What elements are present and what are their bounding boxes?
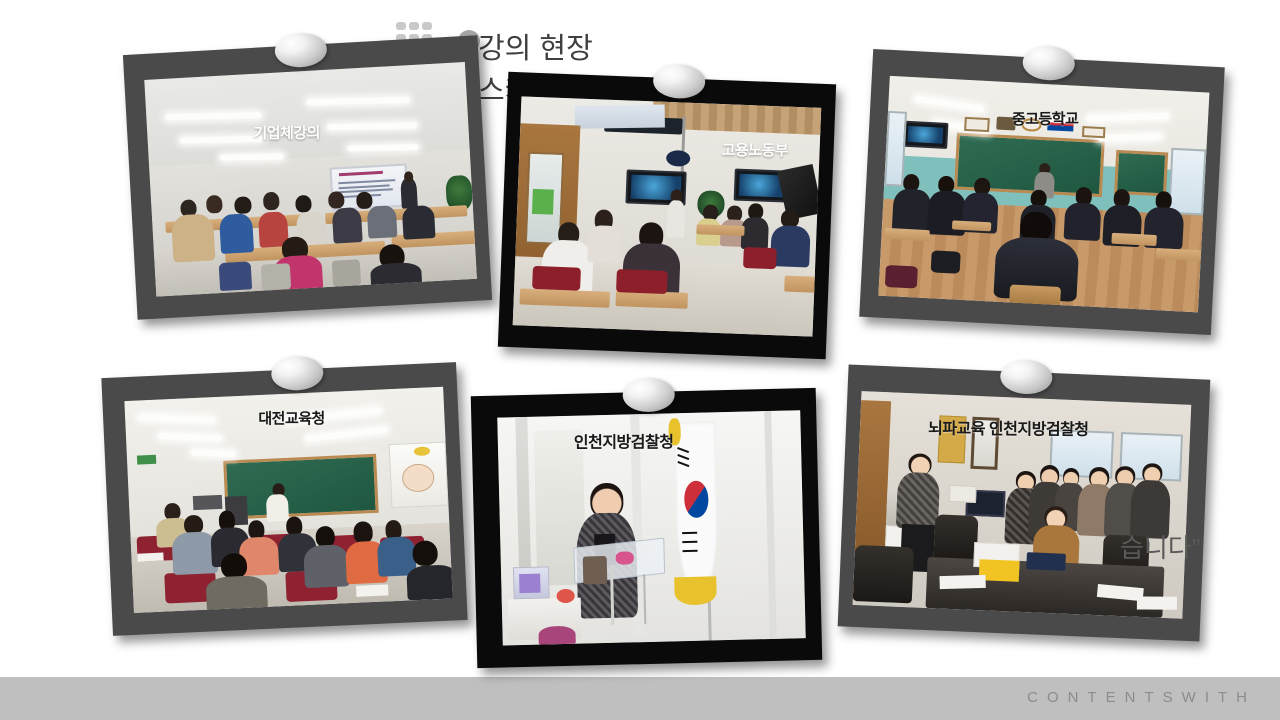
photo-card-6[interactable]: 뇌파교육 인천지방검찰청 — [838, 365, 1211, 642]
oval-pin-icon — [1022, 45, 1076, 82]
oval-pin-icon — [274, 32, 328, 69]
photo-card-5[interactable]: 인천지방검찰청 — [471, 388, 823, 668]
photo-caption: 중고등학교 — [1012, 108, 1079, 130]
photo-card-1[interactable]: 기업체강의 — [123, 35, 492, 319]
photo-caption: 대전교육청 — [258, 408, 325, 429]
quote-fragment: 습니다” — [1120, 528, 1200, 565]
oval-pin-icon — [653, 63, 706, 99]
photo-caption: 고용노동부 — [722, 139, 789, 160]
photo-card-3[interactable]: 중고등학교 — [859, 49, 1225, 335]
oval-pin-icon — [622, 377, 675, 412]
photo-card-2[interactable]: 고용노동부 — [498, 72, 836, 359]
brand-wordmark: CONTENTSWITH — [1027, 689, 1256, 706]
photo-card-4[interactable]: 대전교육청 — [101, 362, 467, 636]
photo-caption: 기업체강의 — [253, 122, 320, 143]
oval-pin-icon — [271, 355, 324, 391]
oval-pin-icon — [1000, 359, 1053, 395]
photo-caption: 인천지방검찰청 — [574, 428, 674, 452]
photo-caption: 뇌파교육 인천지방검찰청 — [928, 415, 1089, 440]
slide-canvas: 강의 현장 스케치 — [0, 0, 1280, 720]
footer-bar: CONTENTSWITH — [0, 677, 1280, 720]
